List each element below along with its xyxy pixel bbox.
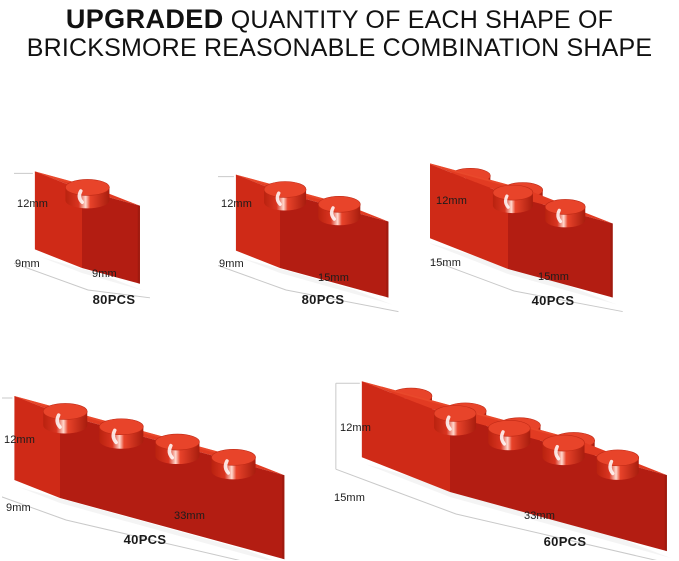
brick-1x2-depth-label: 9mm xyxy=(219,258,244,270)
brick-1x1-height-label: 12mm xyxy=(17,198,48,210)
brick-1x4-height-label: 12mm xyxy=(4,434,35,446)
page-title: UPGRADED QUANTITY OF EACH SHAPE OF BRICK… xyxy=(0,4,679,62)
brick-stud xyxy=(434,405,476,435)
brick-stud xyxy=(155,434,199,464)
brick-stud xyxy=(545,199,585,227)
brick-1x1-width-label: 9mm xyxy=(92,268,117,280)
brick-stud xyxy=(212,449,256,479)
brick-2x4-pcs-label: 60PCS xyxy=(500,534,630,549)
brick-1x1-depth-label: 9mm xyxy=(15,258,40,270)
brick-2x2-depth-label: 15mm xyxy=(430,257,461,269)
brick-1x2-pcs-label: 80PCS xyxy=(258,292,388,307)
brick-2x4-depth-label: 15mm xyxy=(334,492,365,504)
brick-2x2-height-label: 12mm xyxy=(436,195,467,207)
page-title-line-1: UPGRADED QUANTITY OF EACH SHAPE OF xyxy=(0,4,679,34)
brick-stud xyxy=(43,403,87,433)
brick-1x1-pcs-label: 80PCS xyxy=(54,292,174,307)
brick-stud xyxy=(65,179,109,208)
brick-stud xyxy=(493,185,533,213)
brick-item-2x4: 12mm15mm33mm60PCS xyxy=(332,362,677,560)
brick-stud xyxy=(488,420,530,450)
brick-1x4-width-label: 33mm xyxy=(174,510,205,522)
brick-2x4-height-label: 12mm xyxy=(340,422,371,434)
brick-1x2-width-label: 15mm xyxy=(318,272,349,284)
brick-1x2-height-label: 12mm xyxy=(221,198,252,210)
brick-stud xyxy=(264,181,306,210)
brick-2x4-width-label: 33mm xyxy=(524,510,555,522)
brick-stud xyxy=(597,450,639,480)
brick-stud xyxy=(543,435,585,465)
brick-item-1x1: 12mm9mm9mm80PCS xyxy=(14,150,214,325)
page-title-line-1-rest: QUANTITY OF EACH SHAPE OF xyxy=(224,6,614,34)
brick-stud xyxy=(318,196,360,225)
page-title-emphasis: UPGRADED xyxy=(66,4,224,34)
page-title-line-2: BRICKSMORE REASONABLE COMBINATION SHAPE xyxy=(0,34,679,62)
brick-item-1x4: 12mm9mm33mm40PCS xyxy=(2,372,322,560)
brick-item-2x2: 12mm15mm15mm40PCS xyxy=(430,145,652,325)
brick-2x4-illustration xyxy=(332,362,677,560)
brick-stud xyxy=(99,419,143,449)
brick-2x2-width-label: 15mm xyxy=(538,271,569,283)
brick-1x4-depth-label: 9mm xyxy=(6,502,31,514)
brick-1x4-pcs-label: 40PCS xyxy=(80,532,210,547)
brick-2x2-pcs-label: 40PCS xyxy=(488,293,618,308)
brick-item-1x2: 12mm9mm15mm80PCS xyxy=(218,150,428,325)
